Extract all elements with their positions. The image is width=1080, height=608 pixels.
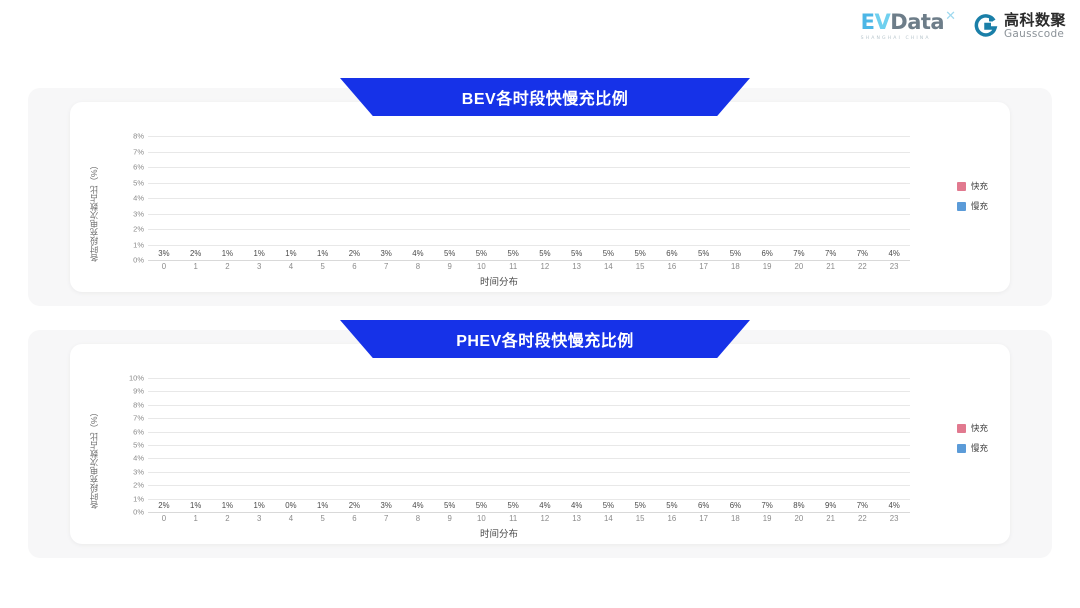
chart1-bar-slot[interactable]: 5%	[624, 136, 656, 260]
chart2-bar-slot[interactable]: 5%	[624, 378, 656, 512]
chart1-stacked-bar[interactable]: 5%	[505, 136, 522, 260]
chart1-bar-value-label: 5%	[634, 249, 645, 258]
chart2-y-tick: 5%	[133, 441, 144, 450]
chart1-bar-value-label: 2%	[349, 249, 360, 258]
chart2-stacked-bar[interactable]: 1%	[251, 378, 268, 512]
chart2-bar-slot[interactable]: 5%	[497, 378, 529, 512]
chart2-bar-value-label: 9%	[825, 501, 836, 510]
chart1-x-tick: 8	[402, 262, 434, 274]
phev-bar-group: 2%1%1%1%0%1%2%3%4%5%5%5%4%4%5%5%5%6%6%7%…	[148, 378, 910, 512]
chart2-x-tick: 20	[783, 514, 815, 526]
chart2-bar-value-label: 4%	[888, 501, 899, 510]
bev-y-axis-label: 各时段充电次数占比（%）	[88, 136, 100, 286]
chart2-bar-value-label: 5%	[444, 501, 455, 510]
chart2-x-tick: 9	[434, 514, 466, 526]
chart1-x-tick: 16	[656, 262, 688, 274]
chart1-bar-value-label: 5%	[539, 249, 550, 258]
chart1-stacked-bar[interactable]: 5%	[632, 136, 649, 260]
chart2-x-tick: 14	[593, 514, 625, 526]
chart1-bar-value-label: 4%	[412, 249, 423, 258]
evdata-letter-data: Data	[890, 10, 944, 34]
chart2-bar-slot[interactable]: 7%	[751, 378, 783, 512]
chart1-bar-slot[interactable]: 1%	[243, 136, 275, 260]
chart1-bar-value-label: 3%	[158, 249, 169, 258]
chart1-stacked-bar[interactable]: 5%	[473, 136, 490, 260]
chart1-bar-slot[interactable]: 4%	[878, 136, 910, 260]
chart2-x-tick: 21	[815, 514, 847, 526]
chart1-bar-value-label: 1%	[253, 249, 264, 258]
chart2-stacked-bar[interactable]: 5%	[473, 378, 490, 512]
chart1-bar-value-label: 5%	[571, 249, 582, 258]
chart2-bar-value-label: 5%	[666, 501, 677, 510]
chart1-bar-value-label: 7%	[825, 249, 836, 258]
bev-chart: 各时段充电次数占比（%） 0%1%2%3%4%5%6%7%8% 3%2%1%1%…	[88, 136, 988, 286]
chart1-x-tick: 2	[212, 262, 244, 274]
chart2-y-tick: 7%	[133, 414, 144, 423]
chart2-bar-slot[interactable]: 4%	[878, 378, 910, 512]
chart1-bar-slot[interactable]: 6%	[656, 136, 688, 260]
bev-x-axis-label: 时间分布	[88, 274, 910, 288]
chart1-bar-slot[interactable]: 4%	[402, 136, 434, 260]
chart2-bar-slot[interactable]: 4%	[561, 378, 593, 512]
chart1-stacked-bar[interactable]: 5%	[695, 136, 712, 260]
phev-x-ticks: 01234567891011121314151617181920212223	[148, 514, 910, 526]
chart2-bar-value-label: 4%	[539, 501, 550, 510]
bev-title-text: BEV各时段快慢充比例	[462, 85, 628, 109]
chart2-bar-slot[interactable]: 2%	[339, 378, 371, 512]
chart1-bar-slot[interactable]: 5%	[497, 136, 529, 260]
evdata-logo-text: EVData	[861, 12, 944, 33]
chart1-y-tick: 2%	[133, 225, 144, 234]
chart2-bar-slot[interactable]: 7%	[847, 378, 879, 512]
chart2-bar-slot[interactable]: 8%	[783, 378, 815, 512]
chart1-x-tick: 10	[466, 262, 498, 274]
chart2-stacked-bar[interactable]: 7%	[759, 378, 776, 512]
chart2-bar-value-label: 8%	[793, 501, 804, 510]
chart2-bar-value-label: 5%	[476, 501, 487, 510]
chart1-stacked-bar[interactable]: 2%	[346, 136, 363, 260]
chart1-bar-value-label: 3%	[380, 249, 391, 258]
chart2-bar-value-label: 1%	[317, 501, 328, 510]
chart1-y-tick: 0%	[133, 256, 144, 265]
chart2-bar-slot[interactable]: 5%	[593, 378, 625, 512]
chart1-bar-value-label: 5%	[507, 249, 518, 258]
chart2-bar-value-label: 7%	[761, 501, 772, 510]
chart2-bar-slot[interactable]: 5%	[466, 378, 498, 512]
chart2-bar-slot[interactable]: 5%	[656, 378, 688, 512]
chart1-x-tick: 19	[751, 262, 783, 274]
chart2-bar-slot[interactable]: 4%	[529, 378, 561, 512]
bev-y-ticks: 0%1%2%3%4%5%6%7%8%	[124, 136, 146, 260]
chart2-x-tick: 10	[466, 514, 498, 526]
chart1-x-tick: 1	[180, 262, 212, 274]
chart1-bar-value-label: 5%	[603, 249, 614, 258]
phev-y-ticks: 0%1%2%3%4%5%6%7%8%9%10%	[124, 378, 146, 512]
chart1-bar-slot[interactable]: 1%	[275, 136, 307, 260]
chart1-stacked-bar[interactable]: 1%	[251, 136, 268, 260]
chart2-bar-value-label: 1%	[190, 501, 201, 510]
chart1-y-tick: 5%	[133, 178, 144, 187]
chart2-y-tick: 0%	[133, 508, 144, 517]
chart1-bar-value-label: 1%	[285, 249, 296, 258]
gausscode-text: 高科数聚 Gausscode	[1004, 13, 1066, 40]
chart2-y-tick: 8%	[133, 400, 144, 409]
chart2-legend-item[interactable]: 快充	[957, 422, 988, 434]
phev-y-axis-label: 各时段充电次数占比（%）	[88, 378, 100, 538]
chart2-bar-slot[interactable]: 3%	[370, 378, 402, 512]
chart1-stacked-bar[interactable]: 7%	[854, 136, 871, 260]
chart2-x-tick: 13	[561, 514, 593, 526]
chart1-bar-slot[interactable]: 3%	[148, 136, 180, 260]
chart2-x-tick: 5	[307, 514, 339, 526]
chart1-bar-value-label: 6%	[761, 249, 772, 258]
chart2-legend-swatch	[957, 444, 966, 453]
chart1-x-tick: 0	[148, 262, 180, 274]
bev-bar-group: 3%2%1%1%1%1%2%3%4%5%5%5%5%5%5%5%6%5%5%6%…	[148, 136, 910, 260]
chart1-bar-value-label: 7%	[857, 249, 868, 258]
chart2-gridline	[148, 512, 910, 513]
chart1-bar-slot[interactable]: 2%	[339, 136, 371, 260]
chart2-stacked-bar[interactable]: 5%	[441, 378, 458, 512]
chart2-x-tick: 17	[688, 514, 720, 526]
chart1-stacked-bar[interactable]: 5%	[536, 136, 553, 260]
chart1-x-tick: 14	[593, 262, 625, 274]
chart1-x-tick: 6	[339, 262, 371, 274]
chart1-legend-label: 慢充	[971, 200, 988, 212]
evdata-letter-e: E	[861, 10, 875, 34]
chart1-gridline	[148, 260, 910, 261]
gausscode-cn-name: 高科数聚	[1004, 13, 1066, 29]
chart2-bar-value-label: 2%	[349, 501, 360, 510]
phev-legend: 快充慢充	[957, 422, 988, 454]
chart2-bar-slot[interactable]: 1%	[180, 378, 212, 512]
chart1-y-tick: 1%	[133, 240, 144, 249]
evdata-letter-v: V	[875, 10, 891, 34]
chart1-x-tick: 13	[561, 262, 593, 274]
chart2-bar-slot[interactable]: 5%	[434, 378, 466, 512]
chart1-stacked-bar[interactable]: 3%	[155, 136, 172, 260]
chart2-bar-value-label: 6%	[730, 501, 741, 510]
chart1-y-tick: 8%	[133, 132, 144, 141]
chart1-bar-slot[interactable]: 5%	[688, 136, 720, 260]
chart1-x-tick: 9	[434, 262, 466, 274]
chart2-stacked-bar[interactable]: 4%	[886, 378, 903, 512]
chart2-bar-slot[interactable]: 6%	[688, 378, 720, 512]
chart1-x-tick: 4	[275, 262, 307, 274]
chart2-x-tick: 23	[878, 514, 910, 526]
chart2-stacked-bar[interactable]: 1%	[187, 378, 204, 512]
chart2-bar-value-label: 4%	[412, 501, 423, 510]
chart1-bar-value-label: 1%	[317, 249, 328, 258]
phev-chart: 各时段充电次数占比（%） 0%1%2%3%4%5%6%7%8%9%10% 2%1…	[88, 378, 988, 538]
chart2-y-tick: 10%	[129, 374, 144, 383]
chart1-stacked-bar[interactable]: 4%	[886, 136, 903, 260]
chart2-legend-label: 慢充	[971, 442, 988, 454]
bev-legend: 快充慢充	[957, 180, 988, 212]
chart2-legend-swatch	[957, 424, 966, 433]
chart2-legend-label: 快充	[971, 422, 988, 434]
chart2-stacked-bar[interactable]: 7%	[854, 378, 871, 512]
gausscode-logo: 高科数聚 Gausscode	[974, 13, 1066, 40]
chart2-x-tick: 3	[243, 514, 275, 526]
chart2-stacked-bar[interactable]: 5%	[600, 378, 617, 512]
chart2-x-tick: 7	[370, 514, 402, 526]
chart1-x-tick: 18	[720, 262, 752, 274]
chart1-stacked-bar[interactable]: 7%	[790, 136, 807, 260]
chart1-x-tick: 5	[307, 262, 339, 274]
evdata-logo: EVData ✕ SHANGHAI CHINA	[861, 12, 956, 41]
chart2-bar-value-label: 4%	[571, 501, 582, 510]
chart1-bar-slot[interactable]: 3%	[370, 136, 402, 260]
bev-title-banner: BEV各时段快慢充比例	[340, 78, 750, 116]
chart2-x-tick: 18	[720, 514, 752, 526]
chart1-stacked-bar[interactable]: 6%	[759, 136, 776, 260]
chart2-bar-slot[interactable]: 9%	[815, 378, 847, 512]
chart1-stacked-bar[interactable]: 5%	[727, 136, 744, 260]
chart2-stacked-bar[interactable]: 6%	[727, 378, 744, 512]
gausscode-logo-icon	[974, 14, 998, 38]
chart2-y-tick: 4%	[133, 454, 144, 463]
chart2-y-tick: 6%	[133, 427, 144, 436]
chart1-x-tick: 15	[624, 262, 656, 274]
chart2-stacked-bar[interactable]: 9%	[822, 378, 839, 512]
chart2-bar-value-label: 2%	[158, 501, 169, 510]
phev-x-axis-label: 时间分布	[88, 526, 910, 540]
chart1-bar-slot[interactable]: 1%	[307, 136, 339, 260]
gausscode-en-name: Gausscode	[1004, 29, 1066, 40]
chart2-x-tick: 4	[275, 514, 307, 526]
chart2-x-tick: 19	[751, 514, 783, 526]
chart1-y-tick: 6%	[133, 163, 144, 172]
chart1-x-tick: 11	[497, 262, 529, 274]
chart2-bar-value-label: 3%	[380, 501, 391, 510]
chart2-stacked-bar[interactable]: 1%	[219, 378, 236, 512]
chart1-bar-value-label: 7%	[793, 249, 804, 258]
chart2-bar-slot[interactable]: 1%	[212, 378, 244, 512]
chart2-stacked-bar[interactable]: 5%	[632, 378, 649, 512]
chart1-x-tick: 17	[688, 262, 720, 274]
chart2-bar-slot[interactable]: 2%	[148, 378, 180, 512]
chart1-stacked-bar[interactable]: 4%	[409, 136, 426, 260]
chart1-x-tick: 21	[815, 262, 847, 274]
chart1-bar-slot[interactable]: 2%	[180, 136, 212, 260]
chart2-bar-slot[interactable]: 4%	[402, 378, 434, 512]
chart1-bar-slot[interactable]: 6%	[751, 136, 783, 260]
chart2-bar-value-label: 6%	[698, 501, 709, 510]
chart2-x-tick: 16	[656, 514, 688, 526]
chart2-x-tick: 6	[339, 514, 371, 526]
chart2-y-tick: 2%	[133, 481, 144, 490]
chart2-stacked-bar[interactable]: 1%	[314, 378, 331, 512]
chart2-stacked-bar[interactable]: 0%	[282, 378, 299, 512]
chart1-stacked-bar[interactable]: 5%	[441, 136, 458, 260]
chart1-bar-value-label: 2%	[190, 249, 201, 258]
chart2-legend-item[interactable]: 慢充	[957, 442, 988, 454]
chart1-stacked-bar[interactable]: 1%	[282, 136, 299, 260]
chart1-bar-slot[interactable]: 1%	[212, 136, 244, 260]
chart1-bar-slot[interactable]: 7%	[783, 136, 815, 260]
phev-title-banner: PHEV各时段快慢充比例	[340, 320, 750, 358]
chart2-x-tick: 11	[497, 514, 529, 526]
phev-plot-area: 0%1%2%3%4%5%6%7%8%9%10% 2%1%1%1%0%1%2%3%…	[124, 378, 910, 512]
chart2-bar-slot[interactable]: 6%	[720, 378, 752, 512]
chart1-bar-value-label: 1%	[222, 249, 233, 258]
chart2-bar-value-label: 5%	[634, 501, 645, 510]
chart1-stacked-bar[interactable]: 5%	[600, 136, 617, 260]
chart1-y-tick: 7%	[133, 147, 144, 156]
chart2-x-tick: 1	[180, 514, 212, 526]
chart1-bar-slot[interactable]: 5%	[593, 136, 625, 260]
chart1-x-tick: 20	[783, 262, 815, 274]
chart1-x-tick: 7	[370, 262, 402, 274]
chart1-x-tick: 22	[847, 262, 879, 274]
chart1-bar-slot[interactable]: 7%	[847, 136, 879, 260]
chart2-stacked-bar[interactable]: 6%	[695, 378, 712, 512]
evdata-cross-icon: ✕	[945, 8, 956, 24]
chart1-bar-slot[interactable]: 5%	[720, 136, 752, 260]
bev-plot-area: 0%1%2%3%4%5%6%7%8% 3%2%1%1%1%1%2%3%4%5%5…	[124, 136, 910, 260]
chart2-x-tick: 15	[624, 514, 656, 526]
evdata-subtitle: SHANGHAI CHINA	[861, 36, 931, 41]
evdata-wordmark: EVData ✕	[861, 12, 956, 33]
chart1-stacked-bar[interactable]: 1%	[219, 136, 236, 260]
chart2-x-tick: 22	[847, 514, 879, 526]
chart1-bar-value-label: 5%	[476, 249, 487, 258]
chart2-stacked-bar[interactable]: 4%	[536, 378, 553, 512]
chart1-bar-value-label: 5%	[698, 249, 709, 258]
chart2-bar-slot[interactable]: 0%	[275, 378, 307, 512]
chart1-bar-slot[interactable]: 5%	[434, 136, 466, 260]
chart2-bar-slot[interactable]: 1%	[307, 378, 339, 512]
chart1-bar-slot[interactable]: 5%	[529, 136, 561, 260]
chart1-stacked-bar[interactable]: 5%	[568, 136, 585, 260]
header-logo-bar: EVData ✕ SHANGHAI CHINA 高科数聚 Gausscode	[861, 12, 1066, 41]
chart2-stacked-bar[interactable]: 8%	[790, 378, 807, 512]
chart1-bar-slot[interactable]: 5%	[561, 136, 593, 260]
chart2-bar-value-label: 5%	[507, 501, 518, 510]
chart1-y-tick: 3%	[133, 209, 144, 218]
chart2-y-tick: 1%	[133, 494, 144, 503]
chart1-legend-item[interactable]: 慢充	[957, 200, 988, 212]
chart1-bar-slot[interactable]: 5%	[466, 136, 498, 260]
chart1-legend-swatch	[957, 182, 966, 191]
bev-x-ticks: 01234567891011121314151617181920212223	[148, 262, 910, 274]
chart1-stacked-bar[interactable]: 3%	[378, 136, 395, 260]
chart1-stacked-bar[interactable]: 2%	[187, 136, 204, 260]
chart2-stacked-bar[interactable]: 3%	[378, 378, 395, 512]
chart1-bar-value-label: 5%	[730, 249, 741, 258]
chart2-stacked-bar[interactable]: 5%	[663, 378, 680, 512]
chart2-y-tick: 9%	[133, 387, 144, 396]
chart2-stacked-bar[interactable]: 4%	[568, 378, 585, 512]
chart2-x-tick: 2	[212, 514, 244, 526]
chart1-y-tick: 4%	[133, 194, 144, 203]
slide-page: EVData ✕ SHANGHAI CHINA 高科数聚 Gausscode B…	[0, 0, 1080, 608]
chart2-x-tick: 0	[148, 514, 180, 526]
chart2-x-tick: 12	[529, 514, 561, 526]
chart1-stacked-bar[interactable]: 1%	[314, 136, 331, 260]
chart2-stacked-bar[interactable]: 2%	[155, 378, 172, 512]
chart2-bar-value-label: 5%	[603, 501, 614, 510]
chart2-x-tick: 8	[402, 514, 434, 526]
chart1-legend-item[interactable]: 快充	[957, 180, 988, 192]
chart1-bar-value-label: 5%	[444, 249, 455, 258]
chart1-stacked-bar[interactable]: 6%	[663, 136, 680, 260]
chart1-bar-value-label: 6%	[666, 249, 677, 258]
chart2-stacked-bar[interactable]: 4%	[409, 378, 426, 512]
chart1-legend-swatch	[957, 202, 966, 211]
chart1-x-tick: 12	[529, 262, 561, 274]
chart2-bar-value-label: 1%	[253, 501, 264, 510]
chart1-bar-slot[interactable]: 7%	[815, 136, 847, 260]
chart2-stacked-bar[interactable]: 5%	[505, 378, 522, 512]
chart2-stacked-bar[interactable]: 2%	[346, 378, 363, 512]
chart2-bar-slot[interactable]: 1%	[243, 378, 275, 512]
chart1-x-tick: 23	[878, 262, 910, 274]
chart2-bar-value-label: 1%	[222, 501, 233, 510]
chart1-stacked-bar[interactable]: 7%	[822, 136, 839, 260]
chart2-bar-value-label: 0%	[285, 501, 296, 510]
phev-title-text: PHEV各时段快慢充比例	[456, 327, 634, 351]
chart1-bar-value-label: 4%	[888, 249, 899, 258]
chart1-legend-label: 快充	[971, 180, 988, 192]
chart2-bar-value-label: 7%	[857, 501, 868, 510]
chart1-x-tick: 3	[243, 262, 275, 274]
chart2-y-tick: 3%	[133, 467, 144, 476]
